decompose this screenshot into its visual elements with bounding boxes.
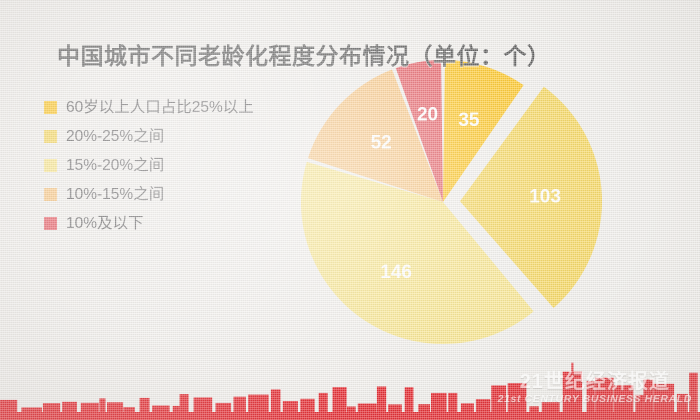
legend-item[interactable]: 20%-25%之间 [44,122,254,151]
legend-swatch-icon [44,188,57,201]
infographic-canvas: 中国城市不同老龄化程度分布情况（单位：个） 60岁以上人口占比25%以上20%-… [0,0,700,420]
legend-swatch-icon [44,159,57,172]
legend-item-label: 15%-20%之间 [66,158,164,174]
legend-item-label: 20%-25%之间 [66,129,164,145]
legend-swatch-icon [44,217,57,230]
pie-slice-value-label: 35 [458,110,480,131]
pie-slice-value-label: 103 [529,187,561,208]
legend-item-label: 10%及以下 [66,216,144,232]
pie-slice-value-label: 146 [380,262,412,283]
legend-swatch-icon [44,130,57,143]
legend-item[interactable]: 10%-15%之间 [44,180,254,209]
legend-swatch-icon [44,101,57,114]
legend-item-label: 10%-15%之间 [66,187,164,203]
legend-item[interactable]: 60岁以上人口占比25%以上 [44,93,254,122]
legend-item[interactable]: 10%及以下 [44,209,254,238]
page-title: 中国城市不同老龄化程度分布情况（单位：个） [57,37,551,71]
legend-item[interactable]: 15%-20%之间 [44,151,254,180]
pie-slice-value-label: 52 [371,132,392,153]
pie-slice-value-label: 20 [417,104,438,125]
chart-legend: 60岁以上人口占比25%以上20%-25%之间15%-20%之间10%-15%之… [44,93,254,238]
legend-item-label: 60岁以上人口占比25%以上 [66,100,254,116]
